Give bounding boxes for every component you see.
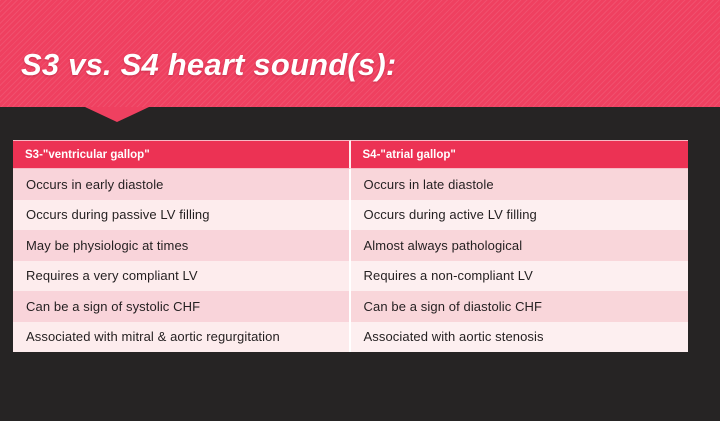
table-row: Requires a very compliant LV Requires a … xyxy=(13,261,688,292)
cell-s4-2: Occurs during active LV filling xyxy=(351,200,689,231)
slide-canvas: S3 vs. S4 heart sound(s): S3-"ventricula… xyxy=(0,0,720,421)
column-header-s4: S4-"atrial gallop" xyxy=(351,140,689,169)
table-row: Associated with mitral & aortic regurgit… xyxy=(13,322,688,353)
table-header: S3-"ventricular gallop" S4-"atrial gallo… xyxy=(13,140,688,169)
cell-s3-6: Associated with mitral & aortic regurgit… xyxy=(13,322,351,353)
table-row: Occurs in early diastole Occurs in late … xyxy=(13,169,688,200)
table-body: Occurs in early diastole Occurs in late … xyxy=(13,169,688,352)
page-title: S3 vs. S4 heart sound(s): xyxy=(21,47,396,83)
table-row: May be physiologic at times Almost alway… xyxy=(13,230,688,261)
cell-s3-3: May be physiologic at times xyxy=(13,230,351,261)
cell-s4-6: Associated with aortic stenosis xyxy=(351,322,689,353)
table-row: Occurs during passive LV filling Occurs … xyxy=(13,200,688,231)
cell-s3-2: Occurs during passive LV filling xyxy=(13,200,351,231)
s3-vs-s4-comparison-table: S3-"ventricular gallop" S4-"atrial gallo… xyxy=(13,140,688,352)
cell-s4-5: Can be a sign of diastolic CHF xyxy=(351,291,689,322)
cell-s3-4: Requires a very compliant LV xyxy=(13,261,351,292)
column-header-s3: S3-"ventricular gallop" xyxy=(13,140,351,169)
cell-s4-1: Occurs in late diastole xyxy=(351,169,689,200)
cell-s3-1: Occurs in early diastole xyxy=(13,169,351,200)
banner-notch-triangle xyxy=(85,107,149,122)
table-header-row: S3-"ventricular gallop" S4-"atrial gallo… xyxy=(13,140,688,169)
table-row: Can be a sign of systolic CHF Can be a s… xyxy=(13,291,688,322)
comparison-table-container: S3-"ventricular gallop" S4-"atrial gallo… xyxy=(13,140,688,352)
cell-s4-4: Requires a non-compliant LV xyxy=(351,261,689,292)
title-banner: S3 vs. S4 heart sound(s): xyxy=(0,0,720,107)
cell-s3-5: Can be a sign of systolic CHF xyxy=(13,291,351,322)
cell-s4-3: Almost always pathological xyxy=(351,230,689,261)
